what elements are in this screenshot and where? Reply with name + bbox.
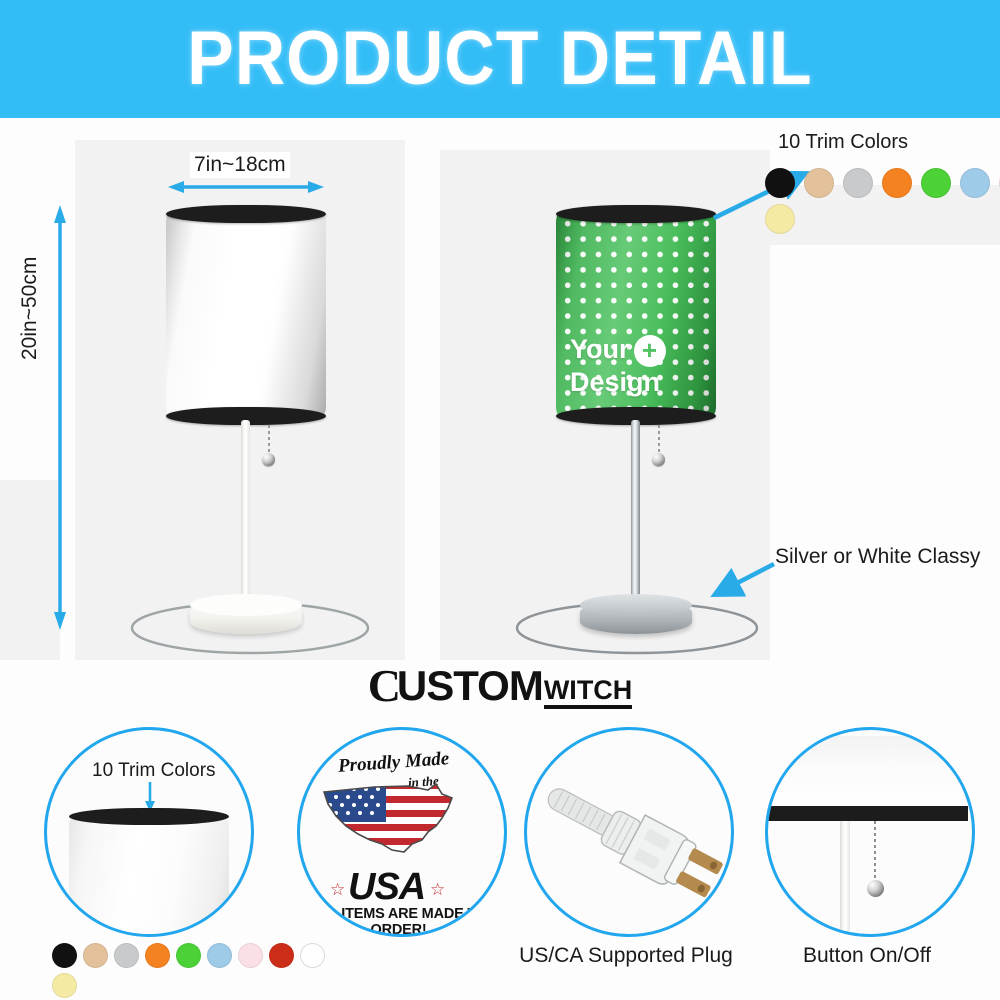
- brand-logo: C USTOM WITCH: [0, 663, 1000, 709]
- swatch-red[interactable]: [269, 943, 294, 968]
- width-dimension-arrow: [168, 180, 324, 194]
- swatch-tan[interactable]: [804, 168, 834, 198]
- feature-trim-colors-circle: 10 Trim Colors: [44, 727, 254, 937]
- design-line-2: Design: [570, 367, 660, 397]
- swatch-black[interactable]: [52, 943, 77, 968]
- logo-witch: WITCH: [544, 677, 632, 709]
- infographic-canvas: PRODUCT DETAIL 7in~18cm 20in~50cm: [0, 0, 1000, 1000]
- feature-button-circle: [765, 727, 975, 937]
- width-dimension-label: 7in~18cm: [190, 152, 290, 178]
- green-lamp-pole: [631, 420, 640, 610]
- green-lamp-chain-ball[interactable]: [652, 453, 665, 466]
- header-banner: PRODUCT DETAIL: [0, 0, 1000, 118]
- trim-colors-row-2: [765, 204, 795, 234]
- bottom-trim-colors-row-2: [52, 973, 77, 998]
- swatch-orange[interactable]: [882, 168, 912, 198]
- bg-patch: [0, 480, 60, 660]
- logo-custom: USTOM: [397, 665, 543, 707]
- bottom-trim-colors-row-1: [52, 943, 325, 968]
- page-title: PRODUCT DETAIL: [187, 21, 812, 97]
- feature-button-chain-ball[interactable]: [867, 880, 884, 897]
- feature-trim-colors-label: 10 Trim Colors: [89, 760, 219, 782]
- power-plug-icon: [535, 752, 723, 922]
- swatch-light-blue[interactable]: [960, 168, 990, 198]
- swatch-gray[interactable]: [843, 168, 873, 198]
- plus-icon[interactable]: +: [634, 335, 666, 367]
- feature-plug-caption: US/CA Supported Plug: [504, 944, 748, 968]
- shade-surface: [166, 212, 326, 417]
- swatch-yellow[interactable]: [52, 973, 77, 998]
- white-lamp-base-top: [190, 594, 302, 616]
- swatch-light-blue[interactable]: [207, 943, 232, 968]
- swatch-pink[interactable]: [238, 943, 263, 968]
- feature-button-shade: [765, 736, 962, 808]
- swatch-orange[interactable]: [145, 943, 170, 968]
- design-line-1: Your: [570, 334, 630, 364]
- white-lamp-shade: [166, 212, 326, 417]
- feature-button-pull-chain[interactable]: [874, 821, 876, 883]
- usa-word: USA: [348, 866, 425, 909]
- feature-button-caption: Button On/Off: [745, 944, 989, 968]
- swatch-yellow[interactable]: [765, 204, 795, 234]
- white-lamp-chain-ball[interactable]: [262, 453, 275, 466]
- feature-shade-body: [69, 818, 229, 937]
- green-lamp-top-trim: [556, 205, 716, 223]
- usa-star-left: ☆: [330, 880, 345, 900]
- swatch-gray[interactable]: [114, 943, 139, 968]
- feature-plug-circle: [524, 727, 734, 937]
- height-dimension-label: 20in~50cm: [18, 257, 42, 360]
- swatch-green[interactable]: [921, 168, 951, 198]
- feature-button-trim: [765, 806, 968, 821]
- your-design-text: Your+ Design: [570, 334, 710, 397]
- swatch-tan[interactable]: [83, 943, 108, 968]
- usa-star-right: ☆: [430, 880, 445, 900]
- green-lamp-base-top: [580, 594, 692, 616]
- height-dimension-arrow: [52, 205, 68, 630]
- swatch-green[interactable]: [176, 943, 201, 968]
- feature-shade-trim: [69, 808, 229, 825]
- usa-made-to-order-text: ALL ITEMS ARE MADE TO ORDER!: [306, 906, 491, 937]
- usa-flag-map-icon: [316, 774, 466, 864]
- white-lamp-pole: [241, 420, 250, 610]
- base-finish-label: Silver or White Classy: [775, 545, 980, 569]
- feature-made-in-usa-circle: Proudly Made in the: [297, 727, 507, 937]
- logo-c-mark: C: [368, 663, 401, 709]
- green-lamp-shade: Your+ Design: [556, 212, 716, 417]
- white-lamp-top-trim: [166, 205, 326, 223]
- trim-colors-row-1: [765, 168, 1000, 198]
- base-finish-arrow: [700, 558, 780, 604]
- swatch-white[interactable]: [300, 943, 325, 968]
- swatch-black[interactable]: [765, 168, 795, 198]
- feature-button-pole: [840, 821, 850, 931]
- trim-colors-title: 10 Trim Colors: [778, 131, 908, 154]
